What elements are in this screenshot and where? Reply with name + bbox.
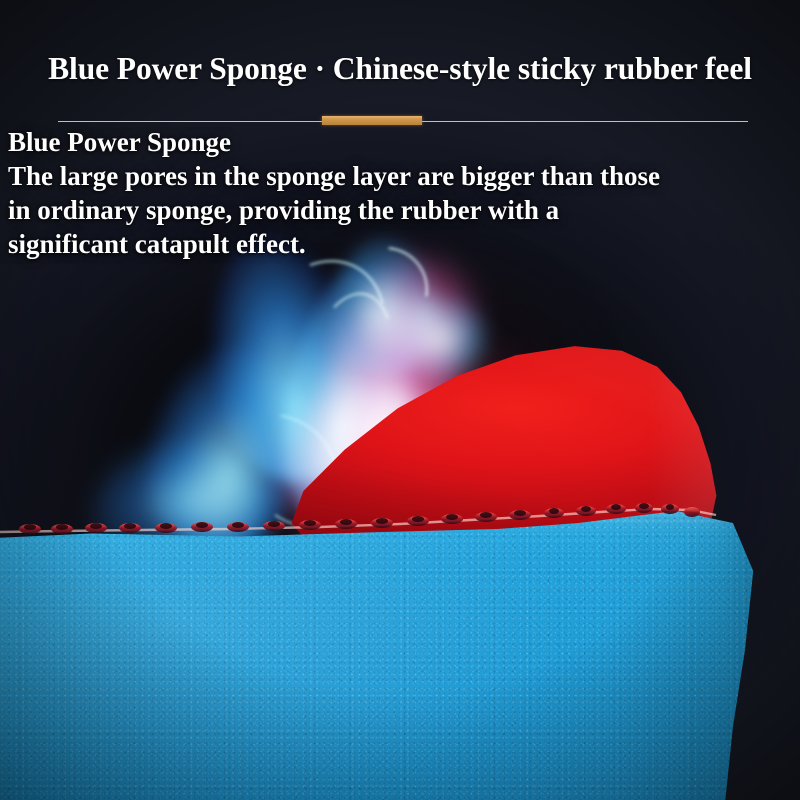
feature-description: The large pores in the sponge layer are … xyxy=(8,159,798,261)
banner-headline: Blue Power Sponge · Chinese-style sticky… xyxy=(6,48,794,88)
divider-accent-bar xyxy=(322,116,422,125)
feature-description-line: significant catapult effect. xyxy=(8,227,798,261)
headline-divider xyxy=(58,116,748,126)
feature-description-line: The large pores in the sponge layer are … xyxy=(8,159,798,193)
feature-description-line: in ordinary sponge, providing the rubber… xyxy=(8,193,798,227)
feature-text-block: Blue Power Sponge The large pores in the… xyxy=(8,126,800,261)
feature-title: Blue Power Sponge xyxy=(8,126,800,159)
product-feature-banner: Blue Power Sponge · Chinese-style sticky… xyxy=(0,0,800,800)
